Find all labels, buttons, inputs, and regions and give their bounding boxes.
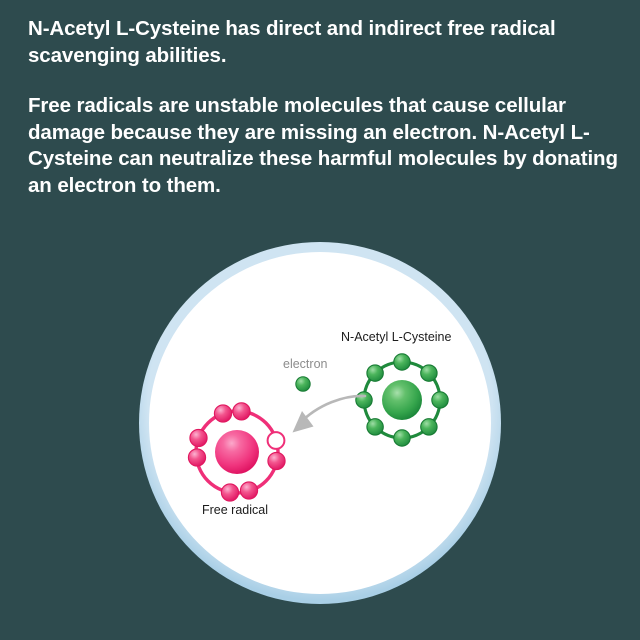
- free-radical-electron: [190, 429, 207, 446]
- diagram-backdrop-circle: [139, 242, 501, 604]
- diagram-canvas: [0, 0, 640, 640]
- infographic-page: N-Acetyl L-Cysteine has direct and indir…: [0, 0, 640, 640]
- nac-molecule: [356, 354, 448, 446]
- free-radical-electron: [221, 484, 238, 501]
- molecule-diagram: N-Acetyl L-Cysteine Free radical electro…: [0, 0, 640, 640]
- electron-label: electron: [283, 357, 327, 371]
- nac-electron: [421, 419, 437, 435]
- free-radical-electron: [240, 482, 257, 499]
- nac-electron: [367, 365, 383, 381]
- free-radical-electron: [214, 405, 231, 422]
- nac-electron: [356, 392, 372, 408]
- free-radical-electron: [233, 403, 250, 420]
- backdrop-inner: [149, 252, 491, 594]
- nac-electron: [367, 419, 383, 435]
- nac-label: N-Acetyl L-Cysteine: [341, 330, 451, 344]
- donated-electron: [296, 377, 310, 391]
- free-radical-label: Free radical: [202, 503, 268, 517]
- free-radical-electron: [188, 449, 205, 466]
- free-radical-electron: [268, 452, 285, 469]
- missing-electron-slot: [268, 432, 285, 449]
- nac-electron: [421, 365, 437, 381]
- free-radical-nucleus: [215, 430, 259, 474]
- nac-electron: [394, 430, 410, 446]
- nac-electron: [432, 392, 448, 408]
- nac-nucleus: [382, 380, 422, 420]
- nac-electron: [394, 354, 410, 370]
